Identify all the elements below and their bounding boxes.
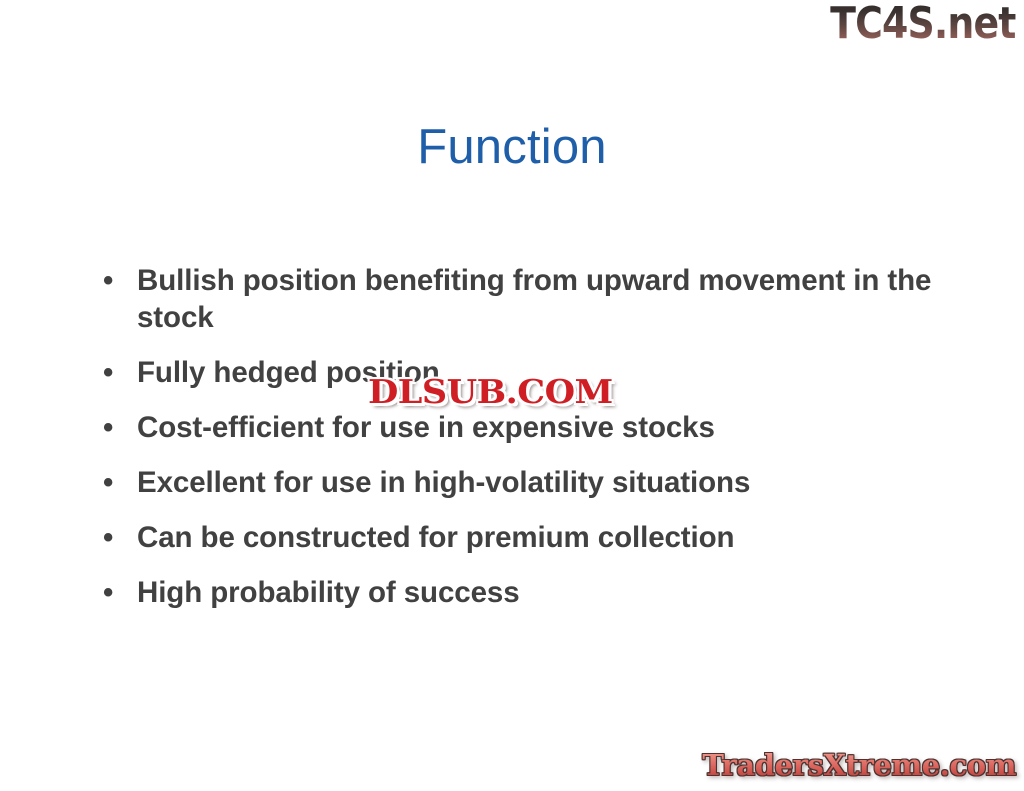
list-item: • Excellent for use in high-volatility s… <box>96 464 946 501</box>
slide-title: Function <box>0 118 1024 176</box>
bullet-point-icon: • <box>96 409 137 446</box>
list-item-label: High probability of success <box>137 574 932 611</box>
tradersxtreme-logo: TradersXtreme.com <box>702 747 1016 783</box>
presentation-slide: TC4S.net Function • Bullish position ben… <box>0 0 1024 791</box>
bullet-point-icon: • <box>96 354 137 391</box>
list-item-label: Excellent for use in high-volatility sit… <box>137 464 932 501</box>
bullet-point-icon: • <box>96 519 137 556</box>
list-item: • High probability of success <box>96 574 946 611</box>
list-item: • Bullish position benefiting from upwar… <box>96 262 946 336</box>
bullet-list: • Bullish position benefiting from upwar… <box>96 262 946 629</box>
bullet-point-icon: • <box>96 574 137 611</box>
list-item-label: Bullish position benefiting from upward … <box>137 262 932 336</box>
list-item-label: Can be constructed for premium collectio… <box>137 519 932 556</box>
bullet-point-icon: • <box>96 464 137 501</box>
tc4s-net-logo: TC4S.net <box>831 0 1016 50</box>
list-item: • Cost-efficient for use in expensive st… <box>96 409 946 446</box>
list-item: • Can be constructed for premium collect… <box>96 519 946 556</box>
list-item-label: Cost-efficient for use in expensive stoc… <box>137 409 932 446</box>
dlsub-watermark: DLSUB.COM <box>368 372 613 412</box>
bullet-point-icon: • <box>96 262 137 299</box>
